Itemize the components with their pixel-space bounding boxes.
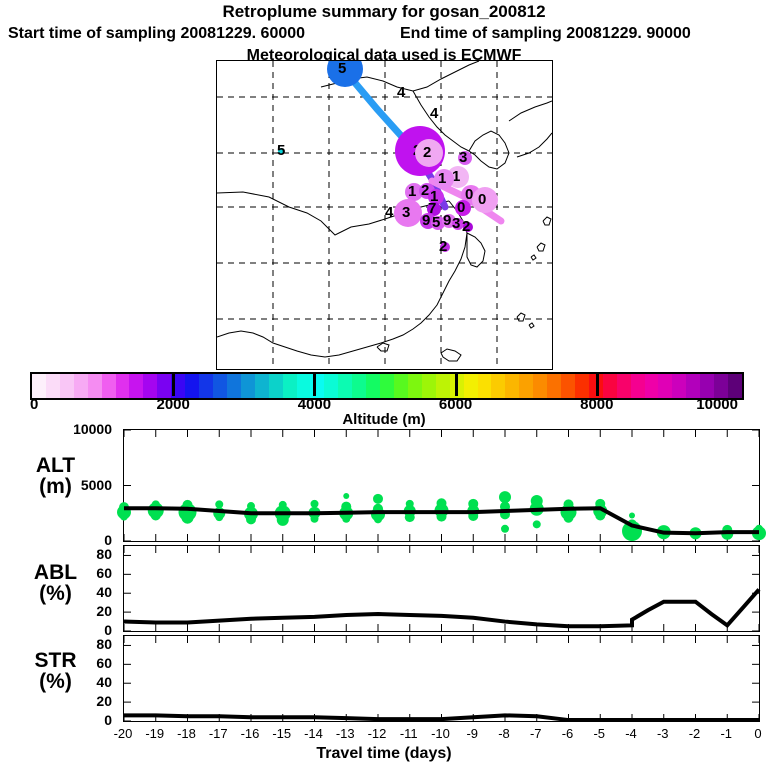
alt-bubble-2	[120, 513, 128, 521]
x-tick-label--9: -9	[455, 726, 489, 741]
x-tick-label--13: -13	[328, 726, 362, 741]
alt-x-ticks	[124, 430, 759, 541]
str-x-ticks	[124, 636, 759, 721]
colorbar-swatch-41	[603, 374, 617, 398]
x-tick-label--11: -11	[392, 726, 426, 741]
alt-plot-area	[124, 430, 759, 541]
colorbar-title: Altitude (m)	[0, 411, 768, 428]
colorbar-swatch-32	[478, 374, 492, 398]
plume-label-15: 0	[457, 200, 465, 215]
alt-bubble-25	[373, 494, 383, 504]
colorbar-swatch-25	[380, 374, 394, 398]
plume-label-6: 2	[423, 145, 431, 160]
alt-chart[interactable]	[123, 429, 760, 542]
plume-label-3: 4	[430, 106, 438, 121]
colorbar-swatch-6	[116, 374, 130, 398]
alt-bubble-14	[246, 514, 256, 524]
colorbar-swatch-11	[185, 374, 199, 398]
plume-label-20: 5	[432, 215, 440, 230]
altitude-colorbar[interactable]	[30, 372, 744, 400]
colorbar-swatch-48	[700, 374, 714, 398]
alt-bubble-41	[501, 525, 509, 533]
abl-chart[interactable]	[123, 545, 760, 632]
colorbar-swatch-38	[561, 374, 575, 398]
colorbar-swatch-9	[157, 374, 171, 398]
y-tick-label-40: 40	[72, 674, 112, 690]
colorbar-swatch-42	[617, 374, 631, 398]
y-tick-label-60: 60	[72, 565, 112, 581]
colorbar-swatch-35	[519, 374, 533, 398]
alt-bubble-47	[564, 513, 574, 523]
colorbar-swatch-0	[32, 374, 46, 398]
colorbar-swatch-31	[464, 374, 478, 398]
y-tick-label-80: 80	[72, 546, 112, 562]
alt-bubble-11	[215, 513, 223, 521]
colorbar-swatch-34	[505, 374, 519, 398]
alt-bubble-44	[533, 520, 541, 528]
colorbar-divider-4000	[313, 372, 316, 396]
plume-label-0: 5	[277, 143, 285, 158]
plume-label-14: 0	[478, 192, 486, 207]
x-tick-label--4: -4	[614, 726, 648, 741]
colorbar-swatch-49	[714, 374, 728, 398]
plume-label-17: 4	[385, 205, 393, 220]
y-tick-label-20: 20	[72, 693, 112, 709]
colorbar-swatch-22	[338, 374, 352, 398]
str-y-ticks	[124, 645, 759, 721]
y-tick-label-5000: 5000	[72, 477, 112, 493]
x-tick-label--8: -8	[487, 726, 521, 741]
x-tick-label--7: -7	[519, 726, 553, 741]
colorbar-swatch-16	[255, 374, 269, 398]
plume-label-1: 5	[338, 61, 346, 76]
plume-label-23: 2	[462, 219, 470, 234]
colorbar-swatch-50	[728, 374, 742, 398]
colorbar-swatch-37	[547, 374, 561, 398]
colorbar-swatch-14	[227, 374, 241, 398]
alt-bubble-20	[311, 515, 319, 523]
colorbar-swatch-17	[269, 374, 283, 398]
x-tick-label--18: -18	[170, 726, 204, 741]
colorbar-swatch-7	[129, 374, 143, 398]
colorbar-swatch-12	[199, 374, 213, 398]
alt-bubble-8	[182, 512, 194, 524]
alt-bubble-28	[374, 515, 382, 523]
x-tick-label--16: -16	[233, 726, 267, 741]
colorbar-swatch-5	[102, 374, 116, 398]
abl-x-ticks	[124, 546, 759, 631]
x-tick-label--5: -5	[582, 726, 616, 741]
plume-label-22: 3	[452, 216, 460, 231]
alt-bubble-17	[277, 514, 289, 526]
colorbar-swatch-24	[366, 374, 380, 398]
sampling-start-time: Start time of sampling 20081229. 60000	[8, 25, 368, 43]
colorbar-divider-6000	[455, 372, 458, 396]
alt-bubble-38	[499, 491, 511, 503]
colorbar-swatch-4	[88, 374, 102, 398]
colorbar-swatch-23	[352, 374, 366, 398]
alt-bubble-51	[629, 512, 635, 518]
colorbar-swatch-36	[533, 374, 547, 398]
alt-y-ticks	[124, 430, 759, 541]
y-tick-label-80: 80	[72, 636, 112, 652]
plume-label-19: 9	[422, 213, 430, 228]
alt-bubble-5	[151, 510, 161, 520]
colorbar-swatch-29	[436, 374, 450, 398]
colorbar-swatch-2	[60, 374, 74, 398]
x-tick-label--12: -12	[360, 726, 394, 741]
colorbar-swatch-8	[143, 374, 157, 398]
plume-label-16: 3	[402, 205, 410, 220]
x-tick-label-0: 0	[741, 726, 768, 741]
sampling-end-time: End time of sampling 20081229. 90000	[400, 25, 760, 43]
colorbar-swatch-33	[491, 374, 505, 398]
abl-data-line	[124, 589, 759, 626]
colorbar-swatch-28	[422, 374, 436, 398]
x-tick-label--19: -19	[138, 726, 172, 741]
colorbar-swatch-44	[645, 374, 659, 398]
abl-plot-area	[124, 546, 759, 631]
x-tick-label--6: -6	[551, 726, 585, 741]
x-tick-label--17: -17	[201, 726, 235, 741]
x-tick-label--15: -15	[265, 726, 299, 741]
colorbar-swatch-27	[408, 374, 422, 398]
colorbar-swatch-13	[213, 374, 227, 398]
x-tick-label--14: -14	[297, 726, 331, 741]
plume-label-10: 1	[408, 184, 416, 199]
alt-bubble-18	[311, 500, 319, 508]
x-axis-title: Travel time (days)	[0, 745, 768, 763]
colorbar-swatch-45	[658, 374, 672, 398]
y-tick-label-40: 40	[72, 584, 112, 600]
str-plot-area	[124, 636, 759, 721]
alt-bubble-21	[343, 493, 349, 499]
y-tick-label-10000: 10000	[72, 421, 112, 437]
y-tick-label-20: 20	[72, 603, 112, 619]
x-tick-label--3: -3	[646, 726, 680, 741]
colorbar-swatch-47	[686, 374, 700, 398]
colorbar-swatch-1	[46, 374, 60, 398]
colorbar-swatch-46	[672, 374, 686, 398]
plume-label-2: 4	[397, 85, 405, 100]
colorbar-divider-2000	[172, 372, 175, 396]
colorbar-swatch-21	[324, 374, 338, 398]
colorbar-divider-8000	[596, 372, 599, 396]
x-tick-label--10: -10	[424, 726, 458, 741]
x-tick-label--1: -1	[709, 726, 743, 741]
plume-label-21: 9	[443, 213, 451, 228]
plume-label-9: 1	[438, 171, 446, 186]
alt-bubble-9	[215, 500, 223, 508]
x-tick-label--2: -2	[678, 726, 712, 741]
x-tick-label--20: -20	[106, 726, 140, 741]
page-title: Retroplume summary for gosan_200812	[0, 2, 768, 22]
colorbar-swatch-3	[74, 374, 88, 398]
str-chart[interactable]	[123, 635, 760, 722]
colorbar-swatch-15	[241, 374, 255, 398]
plume-label-24: 2	[439, 239, 447, 254]
retroplume-map[interactable]: 5544422311121000347959322	[216, 60, 553, 370]
plume-label-7: 3	[459, 150, 467, 165]
colorbar-swatch-39	[575, 374, 589, 398]
alt-bubble-24	[342, 515, 350, 523]
colorbar-swatch-43	[631, 374, 645, 398]
colorbar-swatch-19	[297, 374, 311, 398]
y-tick-label-60: 60	[72, 655, 112, 671]
colorbar-swatch-18	[283, 374, 297, 398]
colorbar-swatch-26	[394, 374, 408, 398]
